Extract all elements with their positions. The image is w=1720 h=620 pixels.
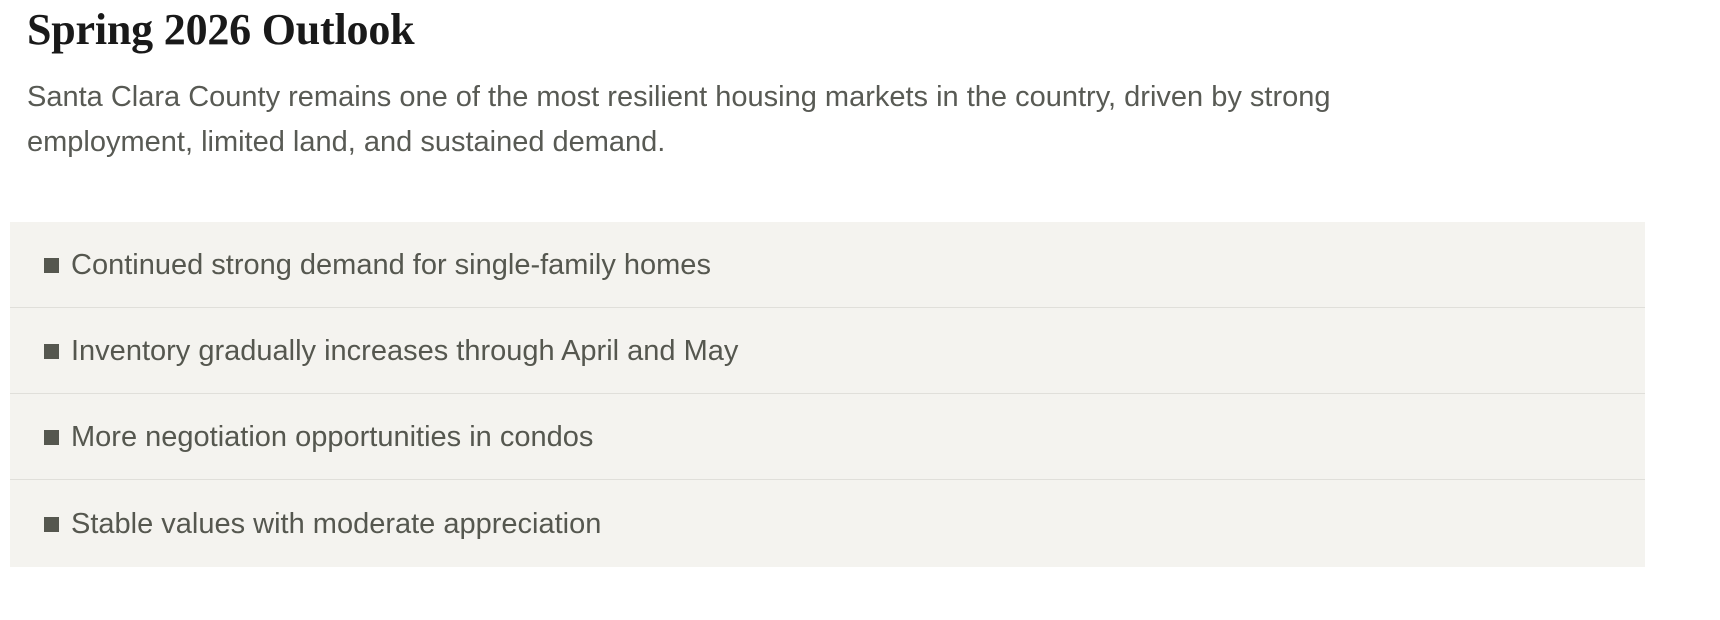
list-item[interactable]: Stable values with moderate appreciation	[10, 480, 1645, 567]
list-item-label: Continued strong demand for single-famil…	[71, 248, 711, 282]
list-item[interactable]: Continued strong demand for single-famil…	[10, 222, 1645, 308]
list-item-label: More negotiation opportunities in condos	[71, 420, 593, 454]
outlook-section: Spring 2026 Outlook Santa Clara County r…	[0, 0, 1720, 620]
page-title: Spring 2026 Outlook	[27, 2, 414, 58]
list-item-label: Stable values with moderate appreciation	[71, 507, 601, 541]
section-intro-paragraph: Santa Clara County remains one of the mo…	[27, 75, 1422, 165]
filled-square-bullet-icon	[44, 430, 59, 445]
filled-square-bullet-icon	[44, 258, 59, 273]
list-item-label: Inventory gradually increases through Ap…	[71, 334, 738, 368]
list-item[interactable]: More negotiation opportunities in condos	[10, 394, 1645, 480]
filled-square-bullet-icon	[44, 517, 59, 532]
outlook-highlights-list: Continued strong demand for single-famil…	[10, 222, 1645, 567]
filled-square-bullet-icon	[44, 344, 59, 359]
list-item[interactable]: Inventory gradually increases through Ap…	[10, 308, 1645, 394]
